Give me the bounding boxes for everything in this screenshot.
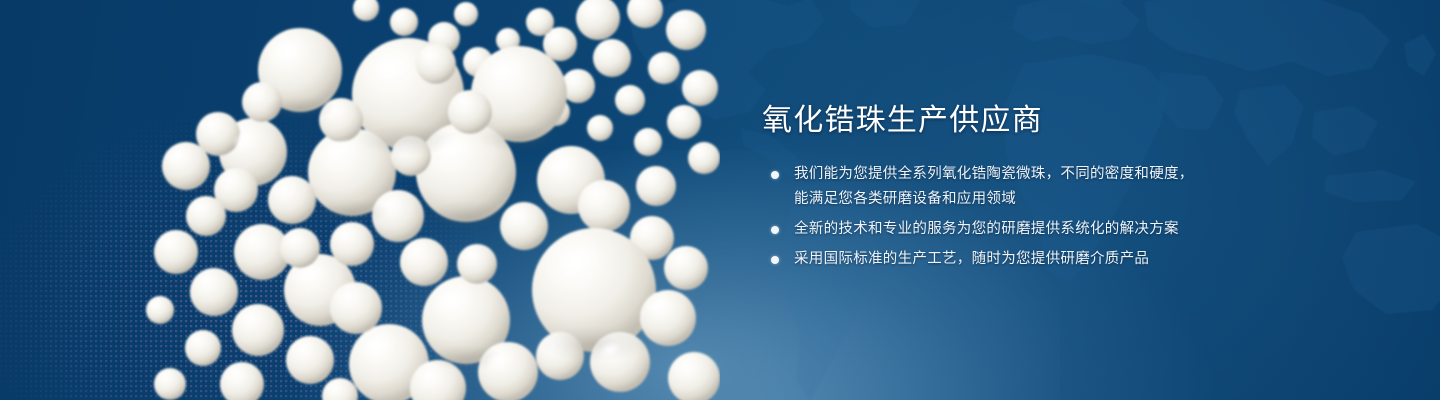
list-item: 采用国际标准的生产工艺，随时为您提供研磨介质产品 — [762, 247, 1232, 272]
dot-bullet-icon — [771, 171, 779, 179]
feature-list: 我们能为您提供全系列氧化锆陶瓷微珠，不同的密度和硬度， 能满足您各类研磨设备和应… — [762, 162, 1232, 272]
list-item-line: 全新的技术和专业的服务为您的研磨提供系统化的解决方案 — [794, 217, 1232, 242]
hero-banner: 氧化锆珠生产供应商 我们能为您提供全系列氧化锆陶瓷微珠，不同的密度和硬度， 能满… — [0, 0, 1440, 400]
dot-bullet-icon — [771, 226, 779, 234]
list-item-line: 采用国际标准的生产工艺，随时为您提供研磨介质产品 — [794, 247, 1232, 272]
dot-bullet-icon — [771, 256, 779, 264]
list-item-line: 我们能为您提供全系列氧化锆陶瓷微珠，不同的密度和硬度， — [794, 162, 1232, 187]
banner-content: 氧化锆珠生产供应商 我们能为您提供全系列氧化锆陶瓷微珠，不同的密度和硬度， 能满… — [762, 104, 1232, 272]
list-item: 全新的技术和专业的服务为您的研磨提供系统化的解决方案 — [762, 217, 1232, 242]
zirconia-beads-image — [0, 0, 720, 400]
page-title: 氧化锆珠生产供应商 — [762, 104, 1232, 138]
list-item-line: 能满足您各类研磨设备和应用领域 — [794, 187, 1232, 212]
list-item: 我们能为您提供全系列氧化锆陶瓷微珠，不同的密度和硬度， 能满足您各类研磨设备和应… — [762, 162, 1232, 212]
